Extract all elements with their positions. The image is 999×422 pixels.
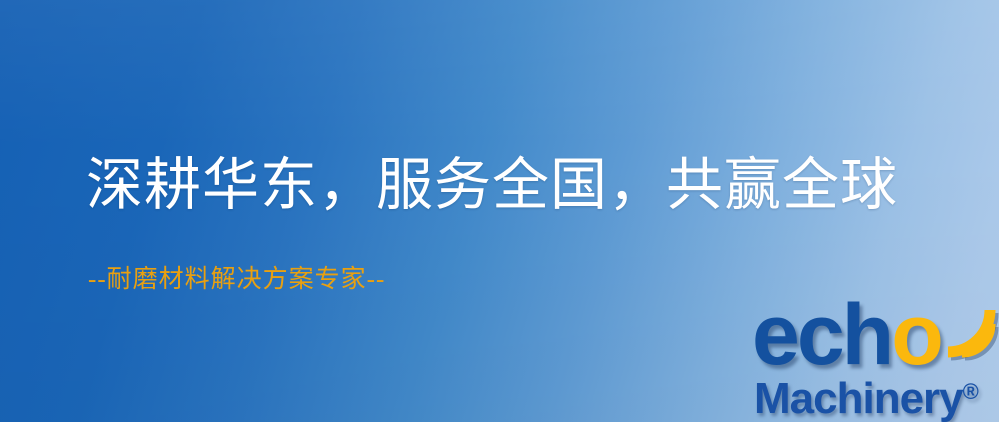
hero-banner: 深耕华东，服务全国，共赢全球 --耐磨材料解决方案专家-- echo Machi… [0,0,999,422]
logo-subtext: Machinery® [754,368,979,422]
banner-headline: 深耕华东，服务全国，共赢全球 [86,152,898,220]
registered-trademark-icon: ® [963,379,979,404]
logo-subtext-label: Machinery [754,374,963,422]
signal-waves-icon [922,288,999,368]
banner-subheadline: --耐磨材料解决方案专家-- [88,264,385,296]
company-logo[interactable]: echo Machinery® [742,292,999,422]
logo-wordmark: echo [752,292,941,378]
